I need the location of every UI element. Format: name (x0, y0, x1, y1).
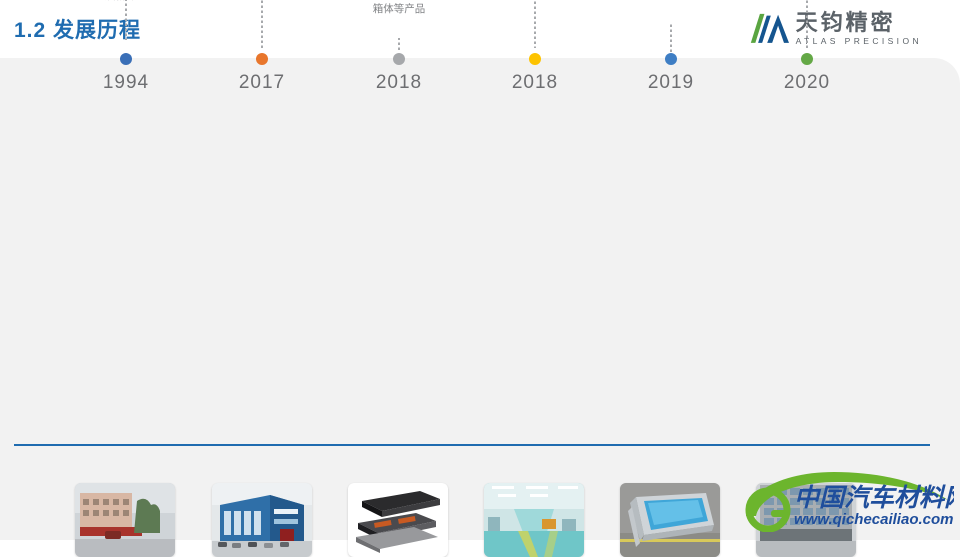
content-panel: 1994 天力铝业成立 注册资金1040万美元，主营建筑、工业铝型材及精加工 (0, 58, 960, 540)
slide-canvas: 1.2 发展历程 天钧精密 ATLAS PRECISION 1994 (0, 0, 960, 540)
connector-line (534, 0, 536, 48)
connector-line (261, 0, 263, 48)
logo-name-cn: 天钧精密 (796, 12, 922, 34)
company-logo: 天钧精密 ATLAS PRECISION (749, 8, 922, 50)
watermark-site-name: 中国汽车材料网 (794, 484, 954, 512)
timeline-axis (14, 444, 930, 446)
watermark-site-url: www.qichecailiao.com (794, 511, 954, 528)
connector-line-lower (398, 38, 400, 52)
timeline-year: 2020 (722, 72, 892, 94)
milestone-description: 注册资金1040万美元，主营建筑、工业铝型材及精加工 (19, 0, 233, 5)
timeline-dot (393, 53, 405, 65)
page-title: 1.2 发展历程 (14, 14, 141, 44)
site-watermark: 中国汽车材料网 www.qichecailiao.com (738, 470, 954, 532)
logo-name-en: ATLAS PRECISION (796, 37, 922, 46)
photo-atlas-plant[interactable] (212, 483, 312, 557)
timeline-dot (801, 53, 813, 65)
timeline-dot (256, 53, 268, 65)
timeline-dot (665, 53, 677, 65)
atlas-mountain-logo-icon (749, 12, 789, 46)
photo-workshop[interactable] (484, 483, 584, 557)
photo-ctp-tray[interactable] (620, 483, 720, 557)
connector-line-lower (670, 22, 672, 52)
connector-line (125, 0, 127, 40)
photo-tianli-factory[interactable] (75, 483, 175, 557)
photo-battery-pack[interactable] (348, 483, 448, 557)
timeline-dot (529, 53, 541, 65)
connector-line (806, 0, 808, 48)
timeline-dot (120, 53, 132, 65)
milestone-description: 通过IATF体系认证；顺利产出NEV动力电池铝合金箱体、热管理系统、水冷电机壳体… (292, 0, 506, 17)
